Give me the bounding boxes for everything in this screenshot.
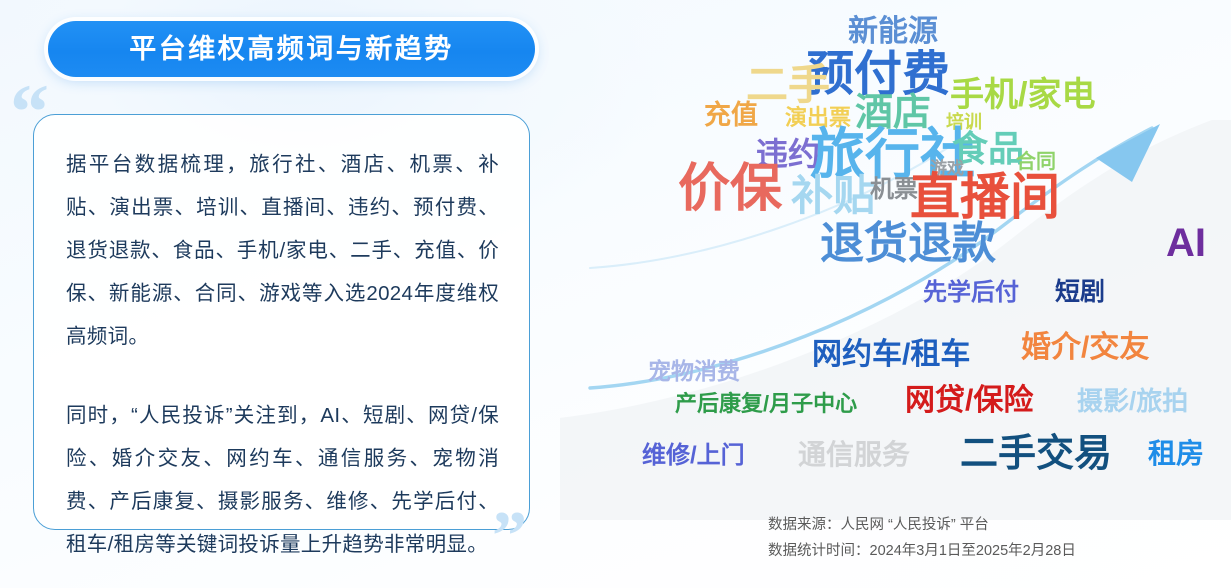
left-panel: 平台维权高频词与新趋势 “ 据平台数据梳理，旅行社、酒店、机票、补贴、演出票、培… [0, 0, 580, 588]
summary-paragraph-2: 同时，“人民投诉”关注到，AI、短剧、网贷/保险、婚介交友、网约车、通信服务、宠… [66, 394, 499, 566]
wordcloud-word: 直播间 [910, 172, 1060, 222]
wordcloud-word: 维修/上门 [642, 444, 745, 468]
quote-close-icon: ” [492, 512, 527, 562]
wordcloud-word: 通信服务 [798, 441, 910, 469]
wordcloud-word: 产后康复/月子中心 [675, 393, 857, 415]
wordcloud-word: AI [1166, 223, 1206, 263]
page-title-pill: 平台维权高频词与新趋势 [48, 21, 535, 77]
data-source-label: 数据来源：人民网 “人民投诉” 平台 [768, 512, 1198, 538]
wordcloud-word: 补贴 [791, 175, 875, 217]
wordcloud-word: 宠物消费 [648, 360, 740, 383]
wordcloud-word: 网约车/租车 [812, 340, 970, 370]
wordcloud-word: 二手 [746, 64, 830, 106]
wordcloud: 新能源预付费二手手机/家电酒店充值演出票培训违约旅行社食品合同价保补贴机票游戏直… [580, 0, 1231, 588]
footer: 数据来源：人民网 “人民投诉” 平台 数据统计时间：2024年3月1日至2025… [768, 512, 1198, 564]
wordcloud-word: 充值 [704, 102, 758, 129]
wordcloud-word: 摄影/旅拍 [1077, 388, 1188, 414]
wordcloud-word: 网贷/保险 [905, 386, 1033, 416]
wordcloud-word: 短剧 [1055, 280, 1105, 305]
summary-text-card: 据平台数据梳理，旅行社、酒店、机票、补贴、演出票、培训、直播间、违约、预付费、退… [33, 114, 530, 530]
wordcloud-word: 婚介/交友 [1021, 333, 1149, 363]
page-title: 平台维权高频词与新趋势 [129, 36, 454, 63]
wordcloud-word: 租房 [1148, 440, 1204, 468]
summary-paragraph-1: 据平台数据梳理，旅行社、酒店、机票、补贴、演出票、培训、直播间、违约、预付费、退… [66, 143, 499, 358]
wordcloud-word: 二手交易 [960, 435, 1112, 473]
data-period-label: 数据统计时间：2024年3月1日至2025年2月28日 [768, 538, 1198, 564]
wordcloud-word: 新能源 [848, 17, 938, 47]
wordcloud-word: 先学后付 [923, 281, 1019, 305]
infographic-root: 平台维权高频词与新趋势 “ 据平台数据梳理，旅行社、酒店、机票、补贴、演出票、培… [0, 0, 1231, 588]
wordcloud-word: 退货退款 [820, 222, 996, 266]
wordcloud-word: 价保 [678, 163, 782, 215]
wordcloud-word: 手机/家电 [950, 78, 1095, 112]
